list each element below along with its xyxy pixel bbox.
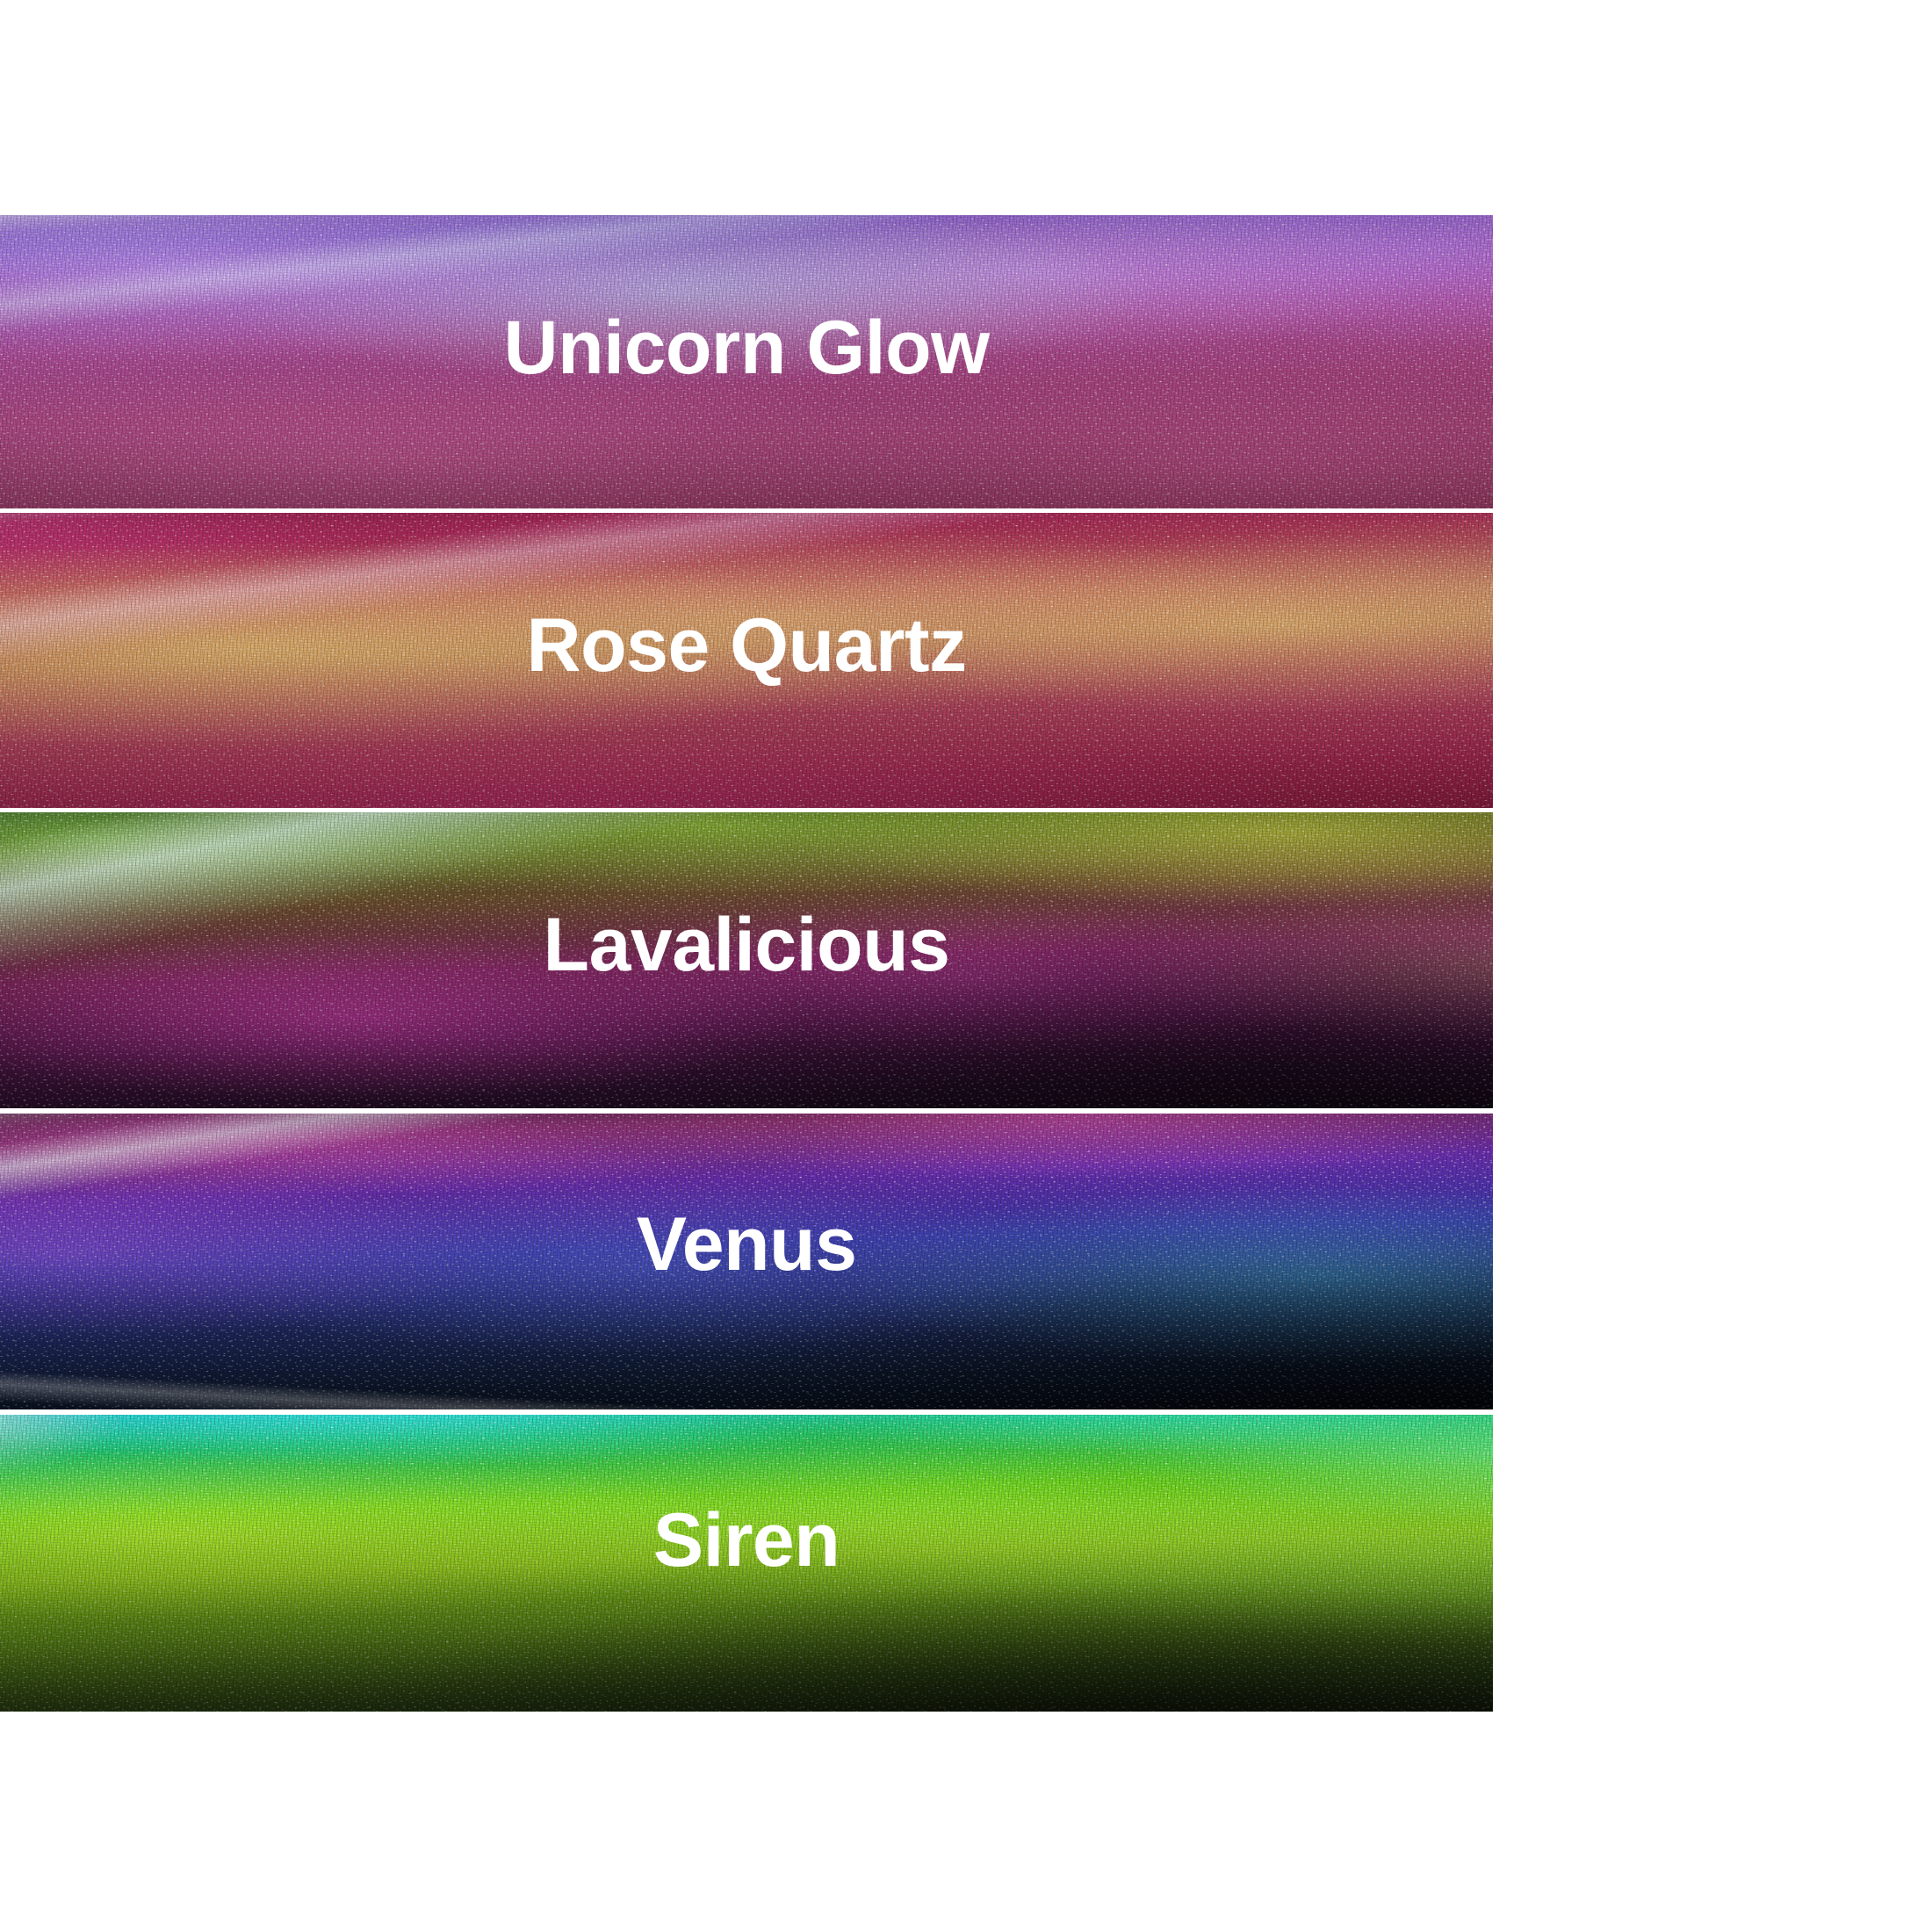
glitter-swatch-chart: Unicorn Glow Rose Quartz Lavalicious Ven… xyxy=(0,0,1932,1932)
swatch-label-venus: Venus xyxy=(0,1207,1493,1282)
swatch-label-rose-quartz: Rose Quartz xyxy=(0,608,1493,683)
swatch-label-lavalicious: Lavalicious xyxy=(0,907,1493,983)
swatch-row-rose-quartz[interactable]: Rose Quartz xyxy=(0,513,1493,808)
swatch-row-siren[interactable]: Siren xyxy=(0,1415,1493,1712)
swatch-row-venus[interactable]: Venus xyxy=(0,1114,1493,1409)
swatch-row-lavalicious[interactable]: Lavalicious xyxy=(0,812,1493,1108)
swatch-row-unicorn-glow[interactable]: Unicorn Glow xyxy=(0,215,1493,508)
swatch-label-unicorn-glow: Unicorn Glow xyxy=(0,310,1493,386)
swatch-label-siren: Siren xyxy=(0,1503,1493,1578)
